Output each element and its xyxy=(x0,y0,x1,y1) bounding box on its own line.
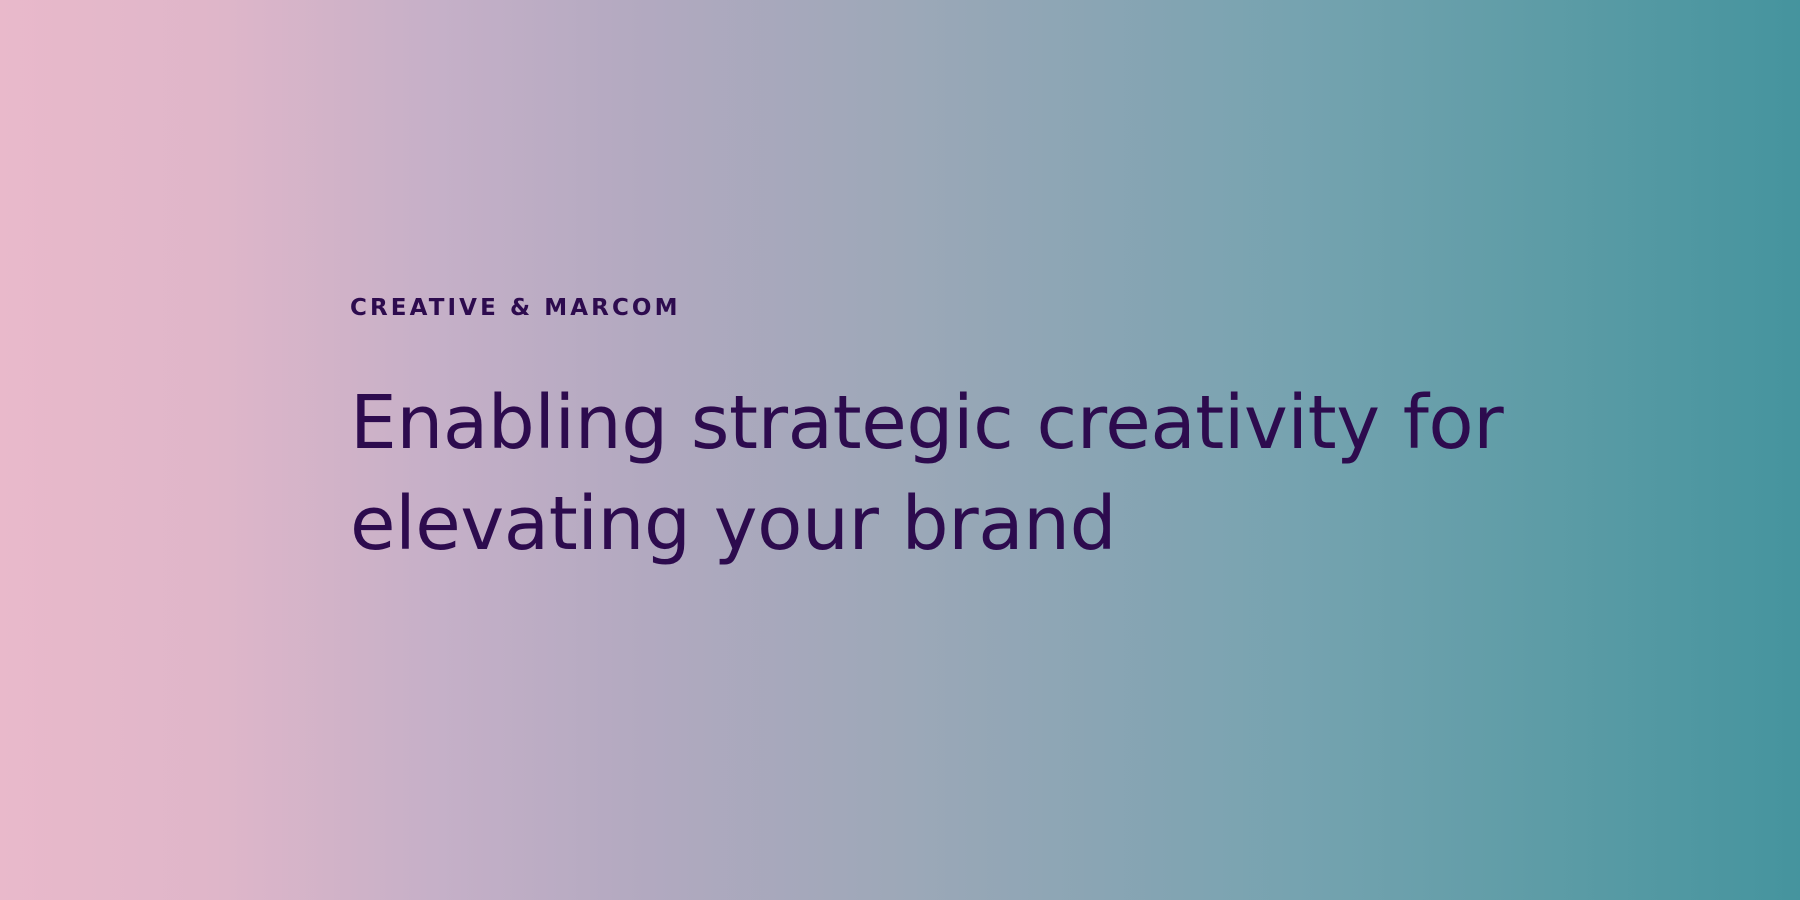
hero-banner: CREATIVE & MARCOM Enabling strategic cre… xyxy=(0,0,1800,900)
page-title: Enabling strategic creativity for elevat… xyxy=(350,373,1550,574)
hero-content: CREATIVE & MARCOM Enabling strategic cre… xyxy=(350,296,1610,575)
headline-line-2: elevating your brand xyxy=(350,474,1550,575)
headline-line-1: Enabling strategic creativity for xyxy=(350,373,1550,474)
eyebrow-category-label: CREATIVE & MARCOM xyxy=(350,296,1610,321)
